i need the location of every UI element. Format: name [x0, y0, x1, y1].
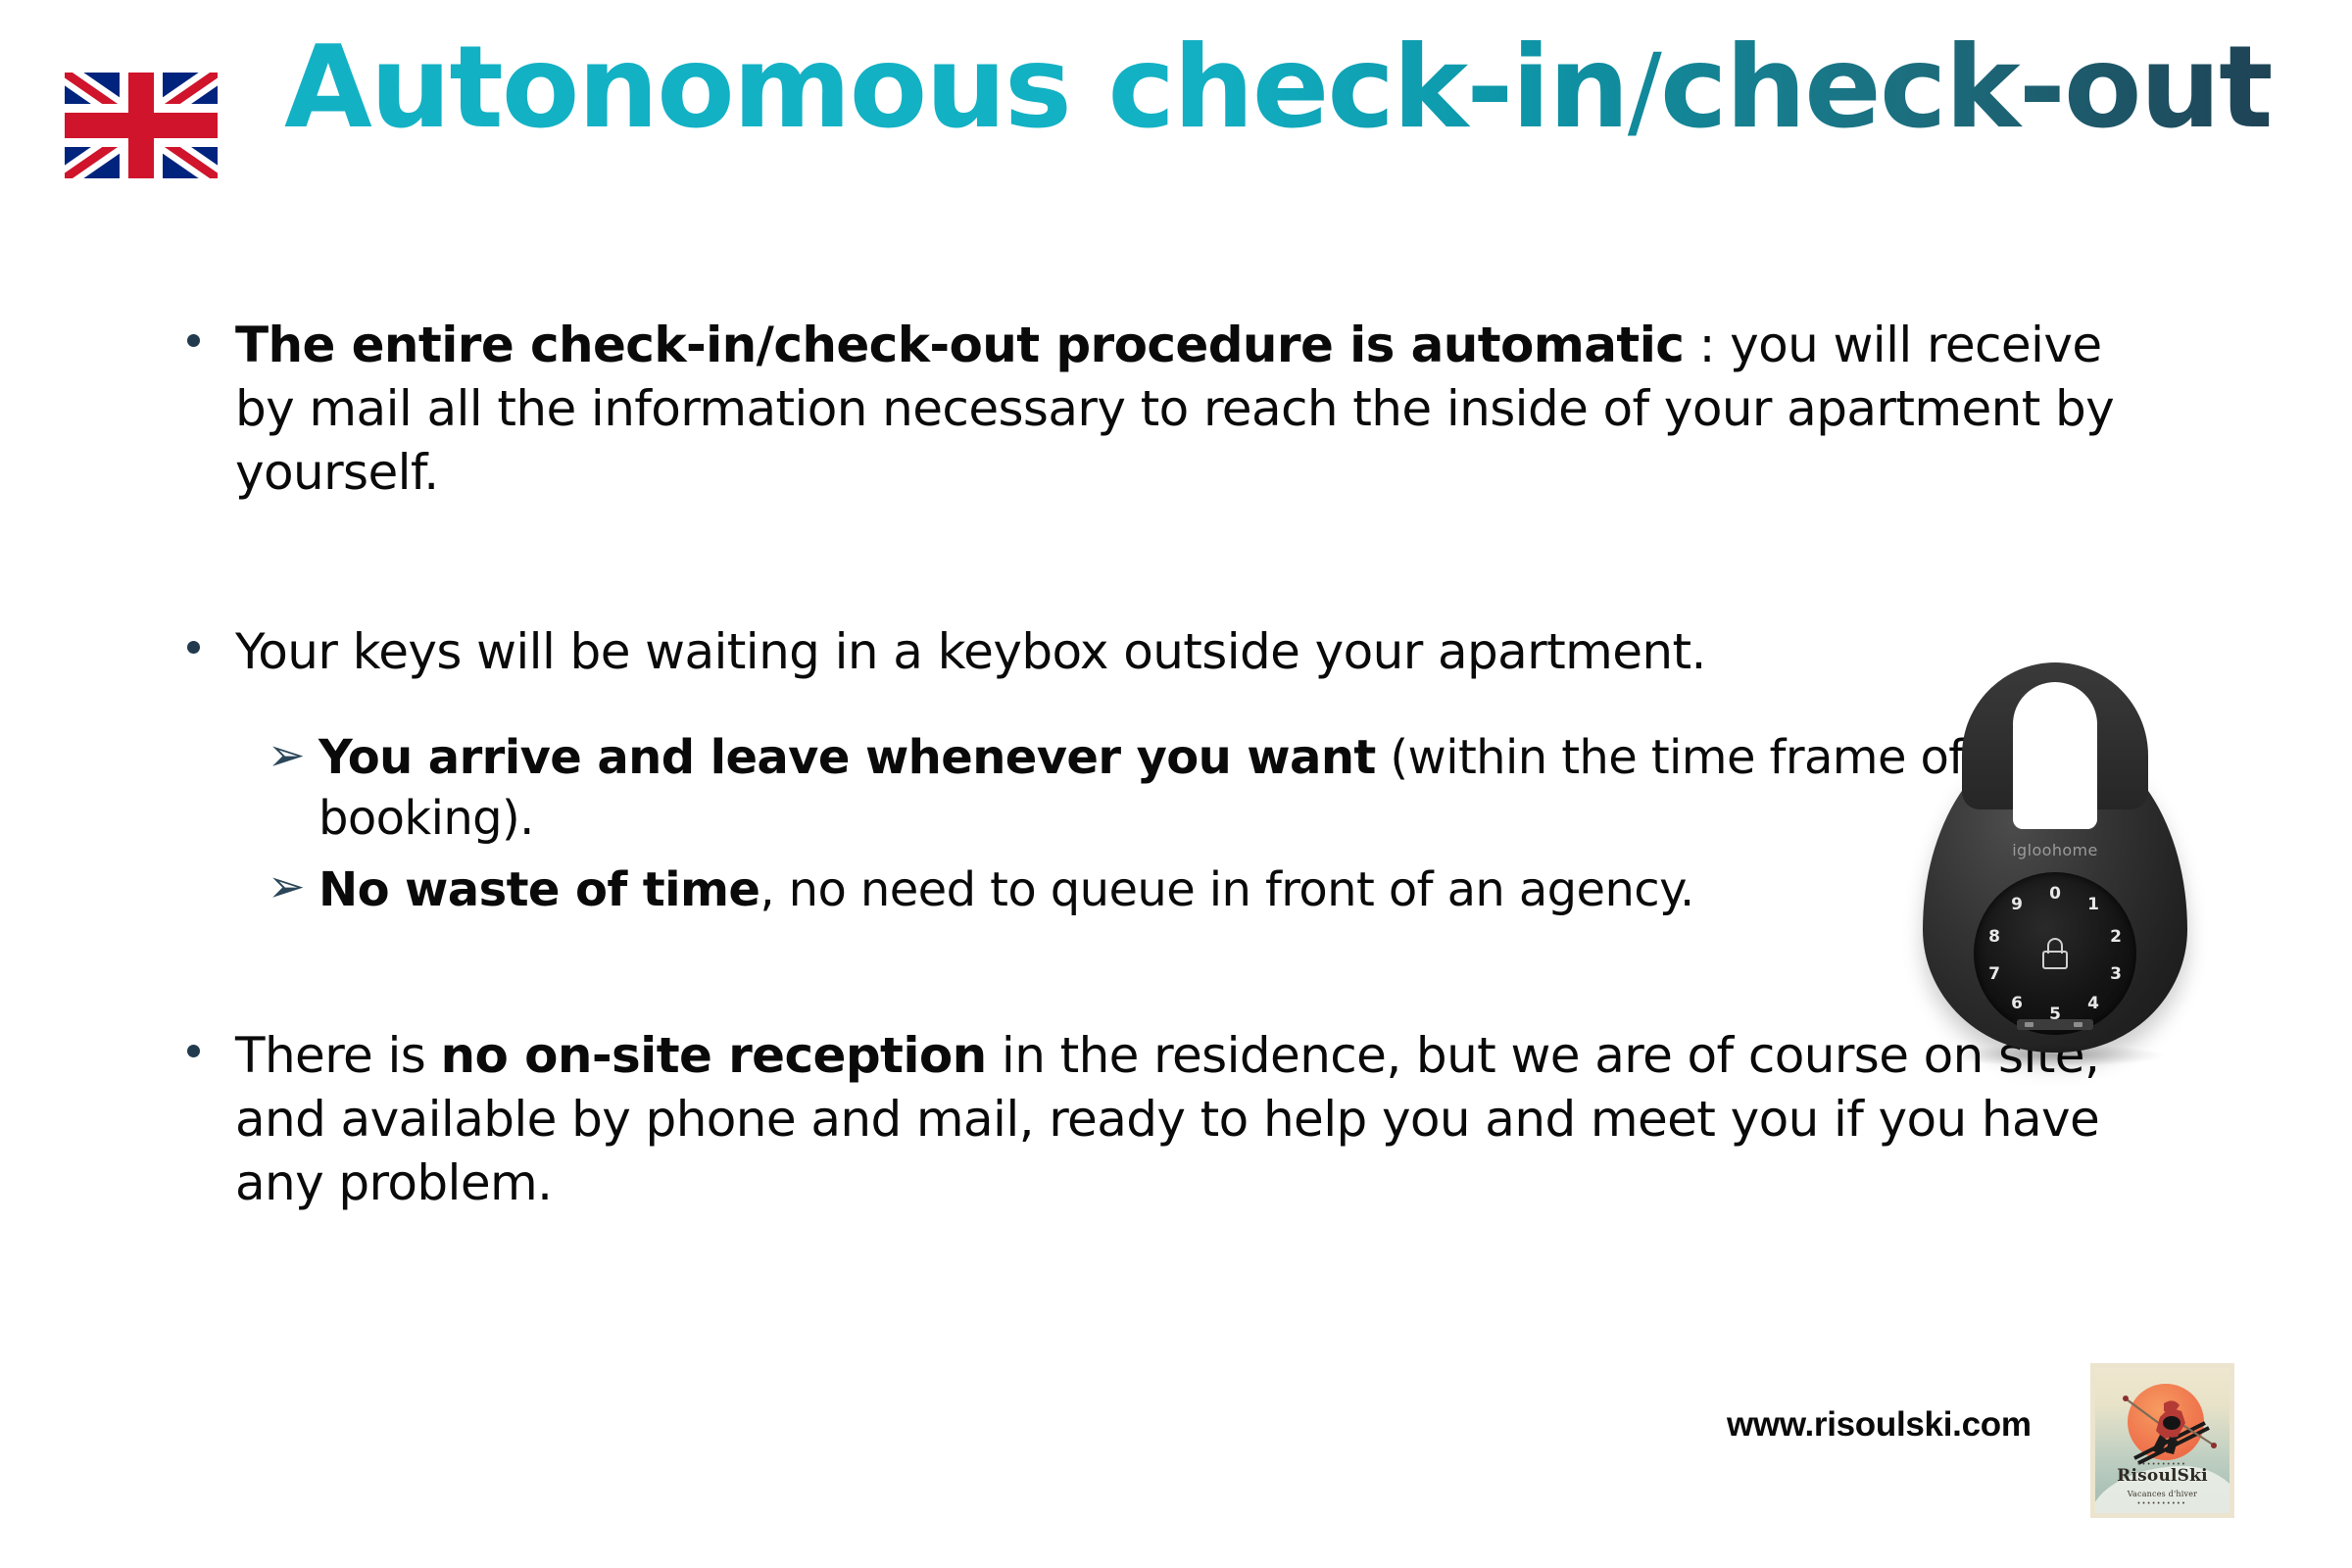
keypad-digit-2: 2: [2105, 926, 2127, 948]
keybox-drop-shadow: [1946, 1045, 2164, 1066]
keybox-graphic: igloohome 0 1 2 3 4 5 6 7 8 9: [1923, 655, 2187, 1056]
list-item-text-pre: There is: [235, 1027, 441, 1084]
spacer: [268, 850, 2151, 859]
list-item: The entire check-in/check-out procedure …: [181, 314, 2151, 505]
keypad-digit-7: 7: [1984, 963, 2005, 985]
spacer: [181, 684, 2151, 727]
sub-list: ➢ You arrive and leave whenever you want…: [268, 727, 2151, 920]
sub-list-item-text: , no need to queue in front of an agency…: [759, 862, 1693, 917]
padlock-icon: [2042, 938, 2068, 969]
bullet-dot-icon: [187, 334, 200, 347]
list-item-bold-lead: The entire check-in/check-out procedure …: [235, 317, 1684, 373]
list-item: There is no on-site reception in the res…: [181, 1024, 2151, 1215]
list-item-bold-mid: no on-site reception: [441, 1027, 987, 1084]
bullet-dot-icon: [187, 641, 200, 654]
arrow-right-icon: ➢: [268, 726, 305, 785]
sub-list-item-bold-lead: No waste of time: [318, 862, 759, 917]
keybox-keypad: 0 1 2 3 4 5 6 7 8 9: [1974, 872, 2136, 1035]
keybox-shackle-opening: [2013, 682, 2097, 829]
keybox-brand-label: igloohome: [1923, 841, 2187, 859]
keypad-digit-4: 4: [2082, 993, 2104, 1014]
slide-header: Autonomous check-in/check-out: [0, 0, 2352, 211]
arrow-right-icon: ➢: [268, 857, 305, 916]
keypad-digit-1: 1: [2082, 894, 2104, 915]
page-title-part1: Autonomous check-in: [284, 22, 1628, 154]
keypad-digit-9: 9: [2006, 894, 2028, 915]
page-title-separator: /: [1628, 31, 1660, 151]
slide-body: The entire check-in/check-out procedure …: [181, 314, 2151, 1215]
logo-brand-text: RisoulSki: [2095, 1466, 2229, 1486]
spacer: [181, 920, 2151, 1024]
igloohome-keybox-image: igloohome 0 1 2 3 4 5 6 7 8 9: [1923, 655, 2187, 1076]
keybox-base-contacts: [2017, 1019, 2093, 1030]
sub-list-item-bold-lead: You arrive and leave whenever you want: [318, 730, 1376, 785]
skier-icon: [2109, 1394, 2223, 1468]
risoulski-logo: •••••••••• RisoulSki Vacances d'hiver ••…: [2090, 1363, 2234, 1518]
keypad-digit-3: 3: [2105, 963, 2127, 985]
sub-list-item: ➢ You arrive and leave whenever you want…: [268, 727, 2151, 850]
list-item: Your keys will be waiting in a keybox ou…: [181, 620, 2151, 684]
logo-tagline-text: Vacances d'hiver: [2095, 1490, 2229, 1498]
spacer: [181, 505, 2151, 620]
slide-canvas: Autonomous check-in/check-out The entire…: [0, 0, 2352, 1568]
bullet-dot-icon: [187, 1045, 200, 1057]
keypad-digit-0: 0: [2044, 883, 2066, 905]
keypad-digit-8: 8: [1984, 926, 2005, 948]
page-title: Autonomous check-in/check-out: [284, 31, 2272, 145]
sub-list-item: ➢ No waste of time, no need to queue in …: [268, 859, 2151, 920]
united-kingdom-flag-icon: [65, 73, 218, 178]
page-title-part2: check-out: [1660, 22, 2272, 154]
keypad-digit-6: 6: [2006, 993, 2028, 1014]
list-item-text: Your keys will be waiting in a keybox ou…: [235, 623, 1706, 680]
website-url[interactable]: www.risoulski.com: [1727, 1405, 2032, 1445]
logo-dot-row-bottom: ••••••••••: [2095, 1500, 2229, 1507]
